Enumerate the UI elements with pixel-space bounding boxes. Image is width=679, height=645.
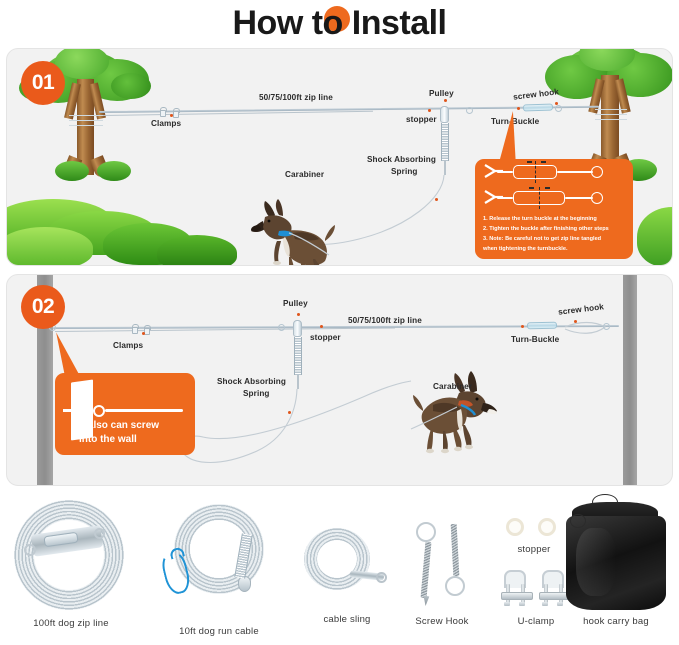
step-badge-2: 02 — [21, 285, 65, 329]
label-shock-spring-2-line1: Shock Absorbing — [217, 377, 286, 386]
pulley-icon-2 — [293, 320, 302, 337]
page-title: How to Install — [233, 4, 447, 43]
screw-hook-eye-1 — [416, 522, 436, 542]
product-label-100ft-zip-line: 100ft dog zip line — [6, 618, 136, 629]
dog-illustration-1 — [245, 197, 337, 266]
turnbuckle-diagram-1 — [475, 159, 633, 185]
screw-thread-callout — [63, 409, 75, 412]
callout-wall-text-line-2: into the wall — [79, 433, 137, 447]
label-shock-spring-2-line2: Spring — [243, 389, 270, 398]
label-zipline-1: 50/75/100ft zip line — [259, 93, 333, 102]
callout-instruction-line-4: when tightening the turnbuckle. — [483, 245, 568, 254]
stopper-ring-2 — [538, 518, 556, 536]
screw-hook-eye-icon — [555, 105, 562, 112]
label-clamps-1: Clamps — [151, 119, 181, 128]
screw-hook-thread-2 — [451, 524, 460, 576]
product-carry-bag: hook carry bag — [560, 494, 672, 616]
callout-turnbuckle-instructions: 1. Release the turn buckle at the beginn… — [475, 159, 633, 259]
turnbuckle-diagram-2 — [475, 185, 633, 211]
product-label-10ft-run-cable: 10ft dog run cable — [154, 626, 284, 637]
screw-shaft-callout — [105, 409, 183, 412]
callout-instruction-line-3: 3. Note: Be careful not to get zip line … — [483, 235, 601, 244]
product-cable-sling: cable sling — [300, 528, 392, 614]
label-pulley-2: Pulley — [283, 299, 308, 308]
clamp-icon-3 — [131, 324, 137, 332]
screw-hook-eye-icon-2 — [603, 323, 610, 330]
callout-instruction-line-1: 1. Release the turn buckle at the beginn… — [483, 215, 597, 224]
screw-hook-thread-1 — [421, 542, 432, 598]
install-step-panel-1: Clamps 50/75/100ft zip line stopper Pull… — [6, 48, 673, 266]
screw-eye-icon-callout — [93, 405, 105, 417]
product-label-carry-bag: hook carry bag — [552, 616, 679, 627]
label-stopper-1: stopper — [406, 115, 437, 124]
turn-buckle-icon-2 — [527, 322, 557, 330]
product-label-screw-hook: Screw Hook — [396, 616, 488, 627]
label-carabiner-2: Carabiner — [433, 382, 472, 391]
turn-buckle-icon — [523, 103, 553, 111]
label-shock-spring-line2: Spring — [391, 167, 418, 176]
label-pulley-1: Pulley — [429, 89, 454, 98]
label-clamps-2: Clamps — [113, 341, 143, 350]
label-carabiner-1: Carabiner — [285, 170, 324, 179]
shock-absorbing-spring-icon — [441, 123, 449, 161]
pulley-icon — [440, 106, 449, 123]
bag-highlight — [576, 528, 616, 596]
product-screw-hook: Screw Hook — [404, 520, 480, 614]
label-stopper-2: stopper — [310, 333, 341, 342]
page-title-bar: How to Install — [0, 0, 679, 46]
u-clamp-nut-1a — [504, 602, 510, 606]
clamp-icon-1 — [159, 107, 165, 115]
product-contents-row: 100ft dog zip line 10ft dog run cable ca… — [0, 492, 679, 645]
label-turnbuckle-2: Turn-Buckle — [511, 335, 559, 344]
step-badge-1: 01 — [21, 61, 65, 105]
u-clamp-nut-1b — [519, 602, 525, 606]
screw-hook-eye-2 — [445, 576, 465, 596]
u-clamp-nut-2a — [542, 602, 548, 606]
cable-connector-eye-icon-2 — [278, 324, 285, 331]
install-step-panel-2: Clamps Pulley stopper 50/75/100ft zip li… — [6, 274, 673, 486]
callout-wall-text-line-1: it also can screw — [79, 419, 159, 433]
callout-wall-screw: it also can screw into the wall — [55, 373, 195, 455]
product-100ft-zip-line: 100ft dog zip line — [10, 496, 132, 614]
product-10ft-run-cable: 10ft dog run cable — [160, 504, 276, 614]
label-zipline-2: 50/75/100ft zip line — [348, 316, 422, 325]
callout-instruction-line-2: 2. Tighten the buckle after finishing ot… — [483, 225, 609, 234]
product-label-cable-sling: cable sling — [292, 614, 402, 625]
cable-connector-eye-icon — [466, 107, 473, 114]
label-shock-spring-line1: Shock Absorbing — [367, 155, 436, 164]
stopper-ring-1 — [506, 518, 524, 536]
